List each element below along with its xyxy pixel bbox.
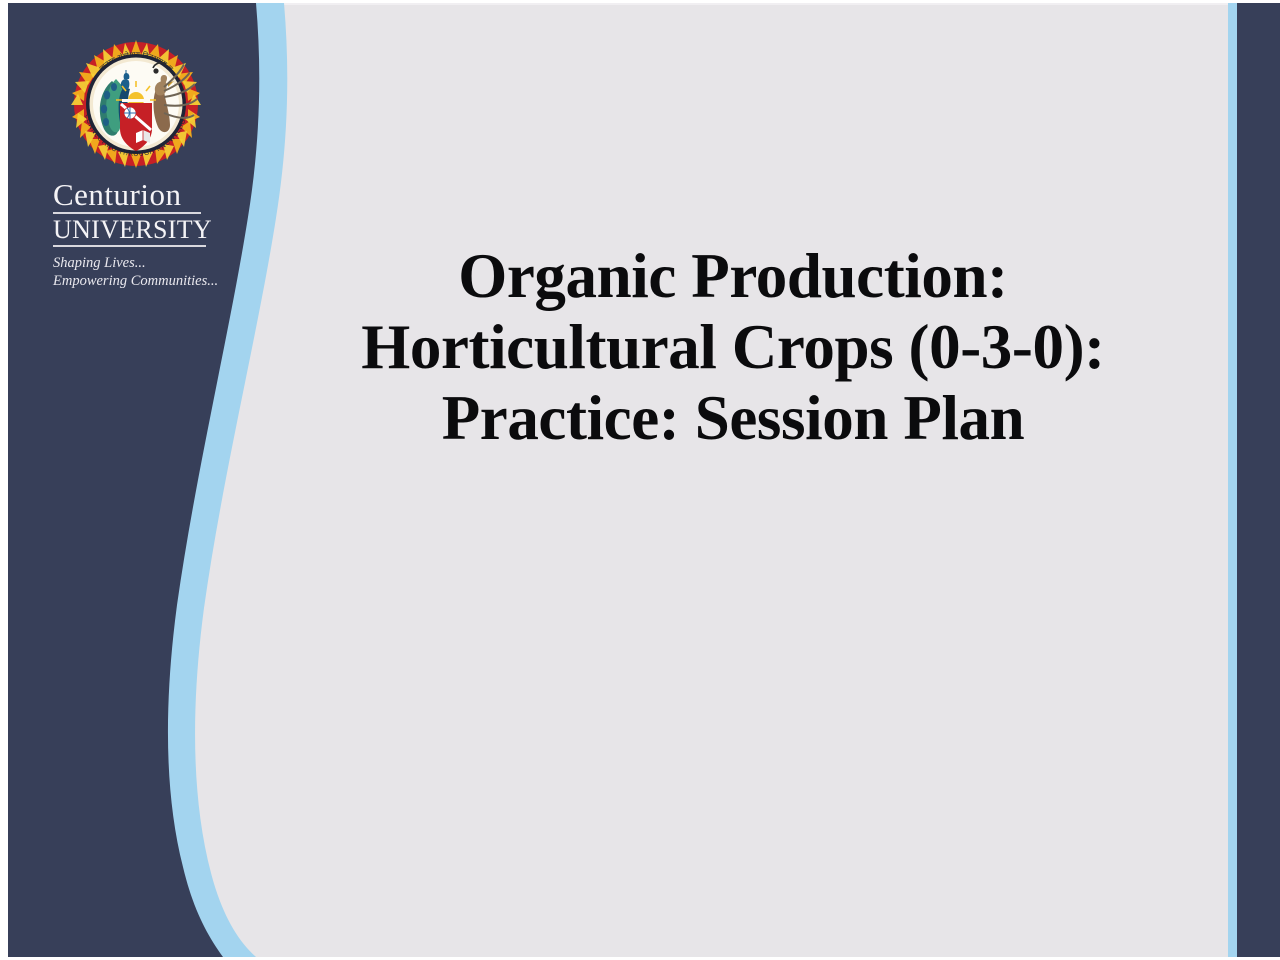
slide-title-line-3: Practice: Session Plan xyxy=(308,383,1158,454)
slide-title: Organic Production: Horticultural Crops … xyxy=(308,241,1158,454)
slide-title-line-2: Horticultural Crops (0-3-0): xyxy=(308,312,1158,383)
right-navy-block xyxy=(1237,3,1280,957)
university-crest-icon: ज्ञानस्य संयोगाय वितरणाय च CONNECTING TH… xyxy=(60,37,212,172)
presentation-slide: ज्ञानस्य संयोगाय वितरणाय च CONNECTING TH… xyxy=(0,0,1280,960)
right-blue-rule xyxy=(1228,3,1237,957)
university-tagline: Shaping Lives... Empowering Communities.… xyxy=(53,254,243,290)
wordmark-line-centurion: Centurion xyxy=(53,178,201,214)
university-branding: ज्ञानस्य संयोगाय वितरणाय च CONNECTING TH… xyxy=(53,37,243,290)
slide-title-block: Organic Production: Horticultural Crops … xyxy=(308,241,1158,454)
right-edge-band xyxy=(1228,3,1280,957)
slide-canvas: ज्ञानस्य संयोगाय वितरणाय च CONNECTING TH… xyxy=(8,3,1280,957)
slide-title-line-1: Organic Production: xyxy=(308,241,1158,312)
university-wordmark: Centurion UNIVERSITY xyxy=(53,178,243,247)
tagline-line-1: Shaping Lives... xyxy=(53,254,243,272)
wordmark-line-university: UNIVERSITY xyxy=(53,214,206,247)
tagline-line-2: Empowering Communities... xyxy=(53,272,243,290)
